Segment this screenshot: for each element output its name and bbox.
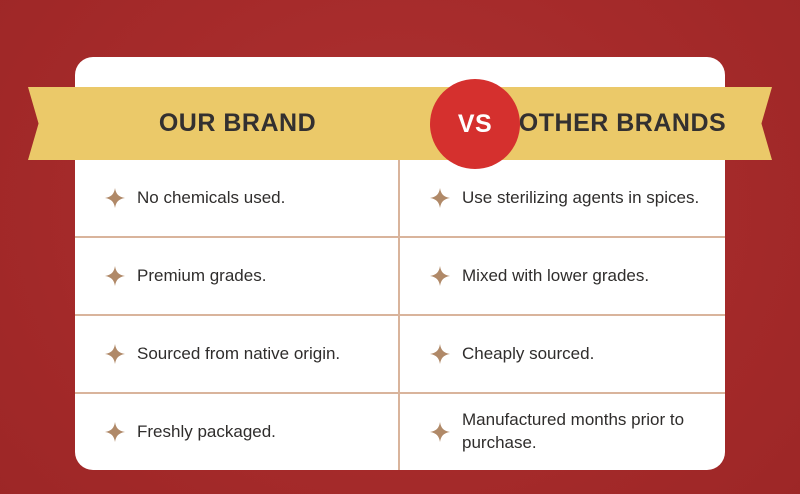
other-brands-cell: Use sterilizing agents in spices. [400, 160, 725, 236]
vs-label: VS [458, 110, 492, 139]
table-row: No chemicals used. Use sterilizing agent… [75, 160, 725, 238]
table-row: Sourced from native origin. Cheaply sour… [75, 316, 725, 394]
our-brand-text: Freshly packaged. [137, 421, 276, 444]
other-brands-text: Mixed with lower grades. [462, 265, 649, 288]
sparkle-icon [430, 188, 450, 208]
table-row: Premium grades. Mixed with lower grades. [75, 238, 725, 316]
our-brand-cell: Freshly packaged. [75, 394, 400, 470]
header-ribbon: OUR BRAND OTHER BRANDS [75, 87, 725, 160]
our-brand-text: Premium grades. [137, 265, 266, 288]
vs-badge: VS [430, 79, 520, 169]
our-brand-text: Sourced from native origin. [137, 343, 340, 366]
sparkle-icon [430, 266, 450, 286]
our-brand-heading: OUR BRAND [75, 109, 430, 138]
sparkle-icon [105, 344, 125, 364]
other-brands-text: Use sterilizing agents in spices. [462, 187, 699, 210]
other-brands-cell: Cheaply sourced. [400, 316, 725, 392]
other-brands-text: Manufactured months prior to purchase. [462, 409, 707, 454]
comparison-infographic: OUR BRAND OTHER BRANDS VS No chemicals u… [0, 0, 800, 494]
our-brand-cell: No chemicals used. [75, 160, 400, 236]
comparison-card: OUR BRAND OTHER BRANDS VS No chemicals u… [75, 57, 725, 470]
comparison-grid: No chemicals used. Use sterilizing agent… [75, 160, 725, 470]
sparkle-icon [105, 422, 125, 442]
other-brands-text: Cheaply sourced. [462, 343, 594, 366]
our-brand-cell: Premium grades. [75, 238, 400, 314]
our-brand-cell: Sourced from native origin. [75, 316, 400, 392]
other-brands-cell: Manufactured months prior to purchase. [400, 394, 725, 470]
sparkle-icon [105, 188, 125, 208]
sparkle-icon [105, 266, 125, 286]
sparkle-icon [430, 422, 450, 442]
sparkle-icon [430, 344, 450, 364]
other-brands-cell: Mixed with lower grades. [400, 238, 725, 314]
table-row: Freshly packaged. Manufactured months pr… [75, 394, 725, 470]
our-brand-text: No chemicals used. [137, 187, 285, 210]
